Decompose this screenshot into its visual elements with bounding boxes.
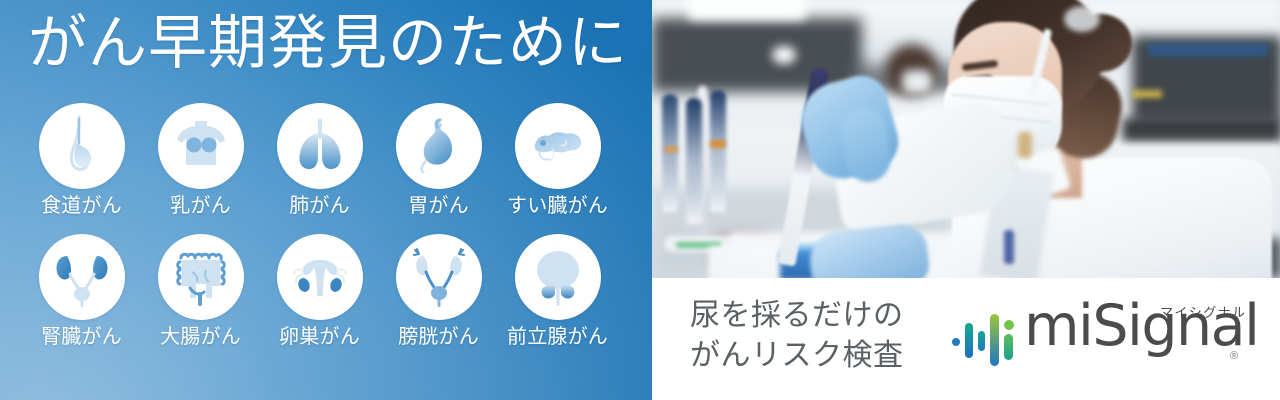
cancer-type-label: 大腸がん	[160, 327, 241, 347]
waveform-icon	[952, 308, 1020, 368]
cancer-type-label: 胃がん	[408, 196, 469, 216]
lab-researcher-photo	[652, 0, 1280, 278]
breast-icon	[158, 103, 244, 189]
cancer-type-item-kidney[interactable]: 腎臓がん	[22, 234, 141, 347]
cancer-type-item-pancreas[interactable]: すい臓がん	[498, 103, 617, 216]
tagline: 尿を採るだけの がんリスク検査	[690, 296, 904, 376]
cancer-type-item-ovary[interactable]: 卵巣がん	[260, 234, 379, 347]
ovary-icon	[277, 234, 363, 320]
stomach-icon	[396, 103, 482, 189]
cancer-type-row-2: 腎臓がん 大腸がん	[22, 234, 638, 347]
colon-icon	[158, 234, 244, 320]
cancer-type-label: 肺がん	[289, 196, 350, 216]
cancer-type-row-1: 食道がん 乳がん	[22, 103, 638, 216]
page-title: がん早期発見のために	[28, 14, 628, 73]
cancer-type-label: 乳がん	[170, 196, 231, 216]
kidney-icon	[39, 234, 125, 320]
cancer-type-label: 前立腺がん	[507, 327, 608, 347]
cancer-type-label: 膀胱がん	[398, 327, 479, 347]
cancer-type-label: すい臓がん	[507, 196, 608, 216]
misignal-logo[interactable]: miSignal マイシグナル ®	[952, 300, 1252, 378]
cancer-type-item-bladder[interactable]: 膀胱がん	[379, 234, 498, 347]
photo-vignette	[652, 0, 1280, 278]
left-blue-panel: がん早期発見のために 食道がん	[0, 0, 652, 400]
esophagus-icon	[39, 103, 125, 189]
tagline-line-1: 尿を採るだけの	[690, 296, 904, 336]
prostate-icon	[515, 234, 601, 320]
cancer-type-grid: 食道がん 乳がん	[22, 103, 638, 347]
cancer-type-item-colon[interactable]: 大腸がん	[141, 234, 260, 347]
tagline-line-2: がんリスク検査	[690, 336, 904, 376]
registered-trademark-icon: ®	[1230, 350, 1238, 362]
cancer-type-label: 食道がん	[41, 196, 122, 216]
lungs-icon	[277, 103, 363, 189]
cancer-type-item-stomach[interactable]: 胃がん	[379, 103, 498, 216]
bladder-icon	[396, 234, 482, 320]
cancer-type-label: 腎臓がん	[41, 327, 122, 347]
pancreas-icon	[515, 103, 601, 189]
cancer-type-item-lung[interactable]: 肺がん	[260, 103, 379, 216]
cancer-type-item-esophagus[interactable]: 食道がん	[22, 103, 141, 216]
cancer-type-item-prostate[interactable]: 前立腺がん	[498, 234, 617, 347]
misignal-banner: がん早期発見のために 食道がん	[0, 0, 1280, 400]
right-panel: 尿を採るだけの がんリスク検査	[652, 0, 1280, 400]
cancer-type-item-breast[interactable]: 乳がん	[141, 103, 260, 216]
logo-kana: マイシグナル	[1160, 302, 1246, 321]
cancer-type-label: 卵巣がん	[279, 327, 360, 347]
